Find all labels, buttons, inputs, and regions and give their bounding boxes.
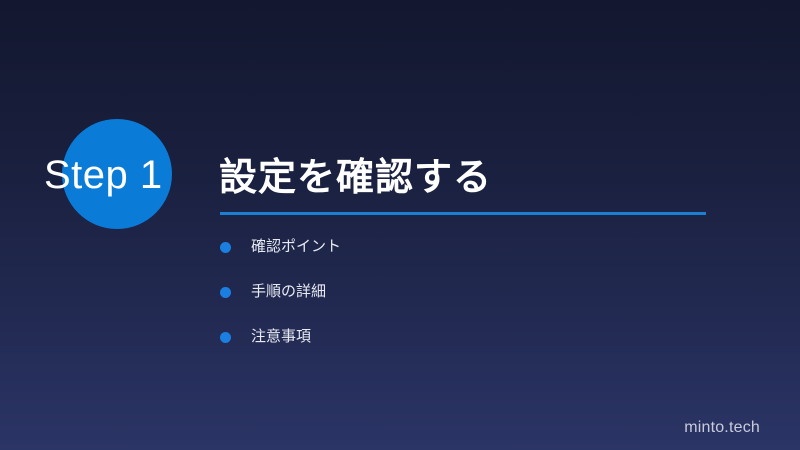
list-item-label: 注意事項 <box>251 326 311 348</box>
page-title: 設定を確認する <box>219 146 492 201</box>
step-badge-label: Step 1 <box>44 152 163 198</box>
list-item-label: 確認ポイント <box>251 236 341 258</box>
list-item: 注意事項 <box>220 326 680 371</box>
footer-brand: minto.tech <box>684 419 760 437</box>
bullet-dot-icon <box>220 242 231 253</box>
list-item: 手順の詳細 <box>220 281 680 326</box>
title-divider <box>220 212 706 215</box>
bullet-dot-icon <box>220 332 231 343</box>
list-item: 確認ポイント <box>220 236 680 281</box>
list-item-label: 手順の詳細 <box>251 281 326 303</box>
bullet-list: 確認ポイント 手順の詳細 注意事項 <box>220 236 680 371</box>
slide-canvas: Step 1 設定を確認する 確認ポイント 手順の詳細 注意事項 minto.t… <box>0 0 800 450</box>
bullet-dot-icon <box>220 287 231 298</box>
